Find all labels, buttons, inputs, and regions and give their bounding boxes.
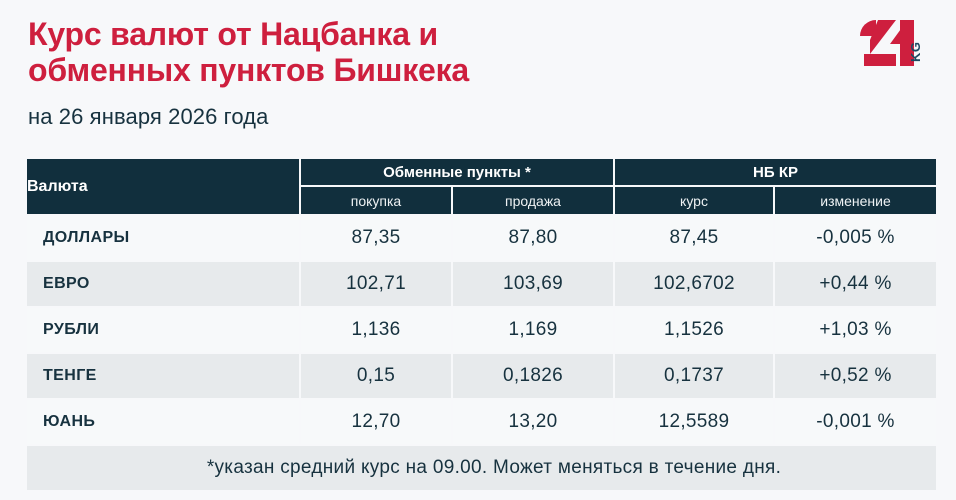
- cell-change: -0,005 %: [775, 216, 936, 260]
- cell-buy: 0,15: [301, 354, 451, 398]
- cell-rate: 12,5589: [615, 400, 773, 444]
- cell-buy: 87,35: [301, 216, 451, 260]
- cell-sell: 0,1826: [453, 354, 613, 398]
- column-group-header-nbkr: НБ КР: [615, 159, 936, 185]
- page-title: Курс валют от Нацбанка и обменных пункто…: [28, 16, 728, 88]
- column-header-sell: продажа: [453, 187, 613, 214]
- brand-logo-24kg: KG: [856, 16, 934, 72]
- table-row: РУБЛИ 1,136 1,169 1,1526 +1,03 %: [27, 308, 936, 352]
- column-header-buy: покупка: [301, 187, 451, 214]
- cell-currency-name: ДОЛЛАРЫ: [27, 216, 299, 260]
- cell-buy: 12,70: [301, 400, 451, 444]
- cell-sell: 87,80: [453, 216, 613, 260]
- page-title-line-2: обменных пунктов Бишкека: [28, 52, 728, 88]
- column-group-header-exchange-offices: Обменные пункты *: [301, 159, 613, 185]
- cell-currency-name: ТЕНГЕ: [27, 354, 299, 398]
- table-footnote: *указан средний курс на 09.00. Может мен…: [27, 446, 936, 490]
- cell-sell: 13,20: [453, 400, 613, 444]
- logo-24kg-icon: KG: [856, 16, 934, 72]
- cell-change: +0,44 %: [775, 262, 936, 306]
- column-header-rate: курс: [615, 187, 773, 214]
- page-subtitle-date: на 26 января 2026 года: [28, 104, 728, 130]
- table-row: ЮАНЬ 12,70 13,20 12,5589 -0,001 %: [27, 400, 936, 444]
- cell-rate: 1,1526: [615, 308, 773, 352]
- cell-change: -0,001 %: [775, 400, 936, 444]
- cell-currency-name: ЮАНЬ: [27, 400, 299, 444]
- cell-sell: 1,169: [453, 308, 613, 352]
- cell-currency-name: РУБЛИ: [27, 308, 299, 352]
- table-row: ДОЛЛАРЫ 87,35 87,80 87,45 -0,005 %: [27, 216, 936, 260]
- cell-change: +0,52 %: [775, 354, 936, 398]
- cell-rate: 87,45: [615, 216, 773, 260]
- column-header-change: изменение: [775, 187, 936, 214]
- table-body: ДОЛЛАРЫ 87,35 87,80 87,45 -0,005 % ЕВРО …: [27, 216, 936, 490]
- cell-sell: 103,69: [453, 262, 613, 306]
- table-row: ЕВРО 102,71 103,69 102,6702 +0,44 %: [27, 262, 936, 306]
- svg-text:KG: KG: [908, 42, 923, 63]
- table-row: ТЕНГЕ 0,15 0,1826 0,1737 +0,52 %: [27, 354, 936, 398]
- column-header-currency: Валюта: [27, 159, 299, 214]
- cell-currency-name: ЕВРО: [27, 262, 299, 306]
- cell-buy: 102,71: [301, 262, 451, 306]
- title-block: Курс валют от Нацбанка и обменных пункто…: [28, 16, 728, 130]
- currency-rates-table: Валюта Обменные пункты * НБ КР покупка п…: [25, 157, 938, 492]
- cell-rate: 102,6702: [615, 262, 773, 306]
- page-header: Курс валют от Нацбанка и обменных пункто…: [0, 0, 956, 150]
- cell-rate: 0,1737: [615, 354, 773, 398]
- page-title-line-1: Курс валют от Нацбанка и: [28, 16, 728, 52]
- table-footnote-row: *указан средний курс на 09.00. Может мен…: [27, 446, 936, 490]
- cell-buy: 1,136: [301, 308, 451, 352]
- cell-change: +1,03 %: [775, 308, 936, 352]
- table-head: Валюта Обменные пункты * НБ КР покупка п…: [27, 159, 936, 214]
- table-header-row-groups: Валюта Обменные пункты * НБ КР: [27, 159, 936, 185]
